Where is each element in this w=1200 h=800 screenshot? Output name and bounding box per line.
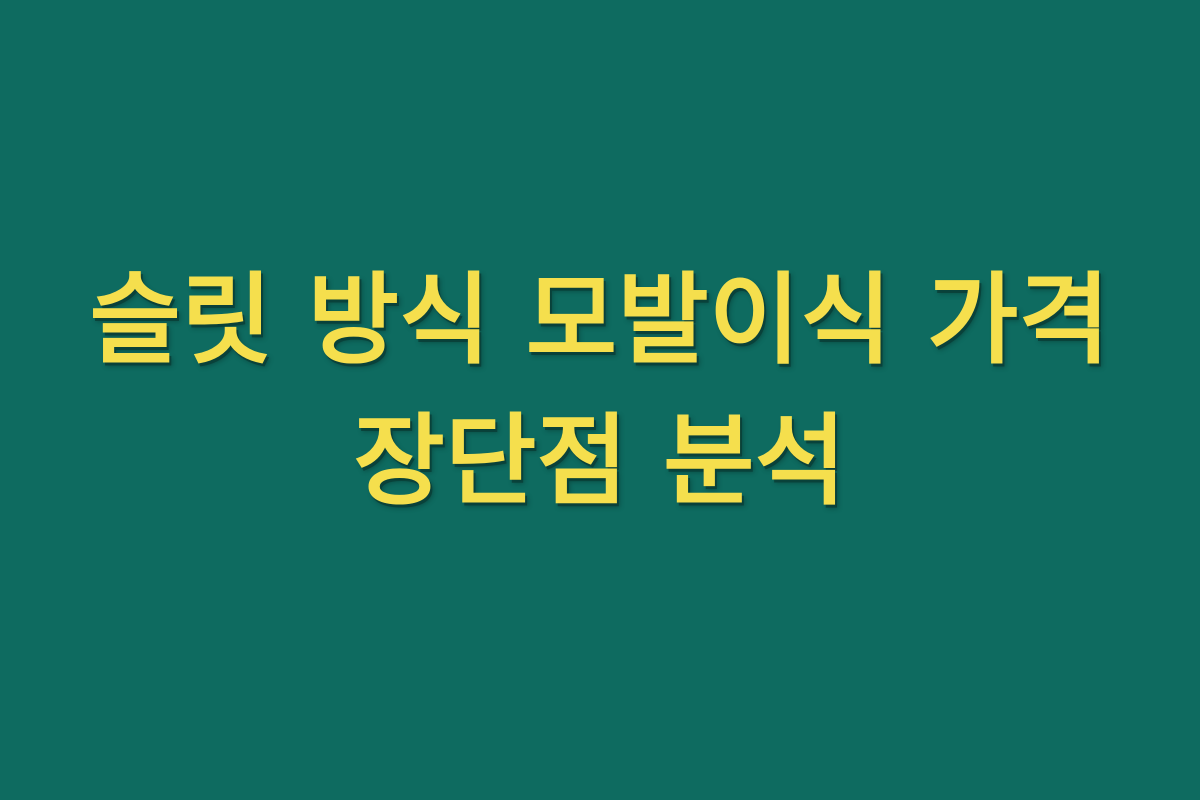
title-line-2: 장단점 분석 xyxy=(24,392,1176,533)
title-line-1: 슬릿 방식 모발이식 가격 xyxy=(24,251,1176,392)
title-card-banner: 슬릿 방식 모발이식 가격 장단점 분석 xyxy=(0,0,1200,800)
page-title: 슬릿 방식 모발이식 가격 장단점 분석 xyxy=(0,251,1200,532)
